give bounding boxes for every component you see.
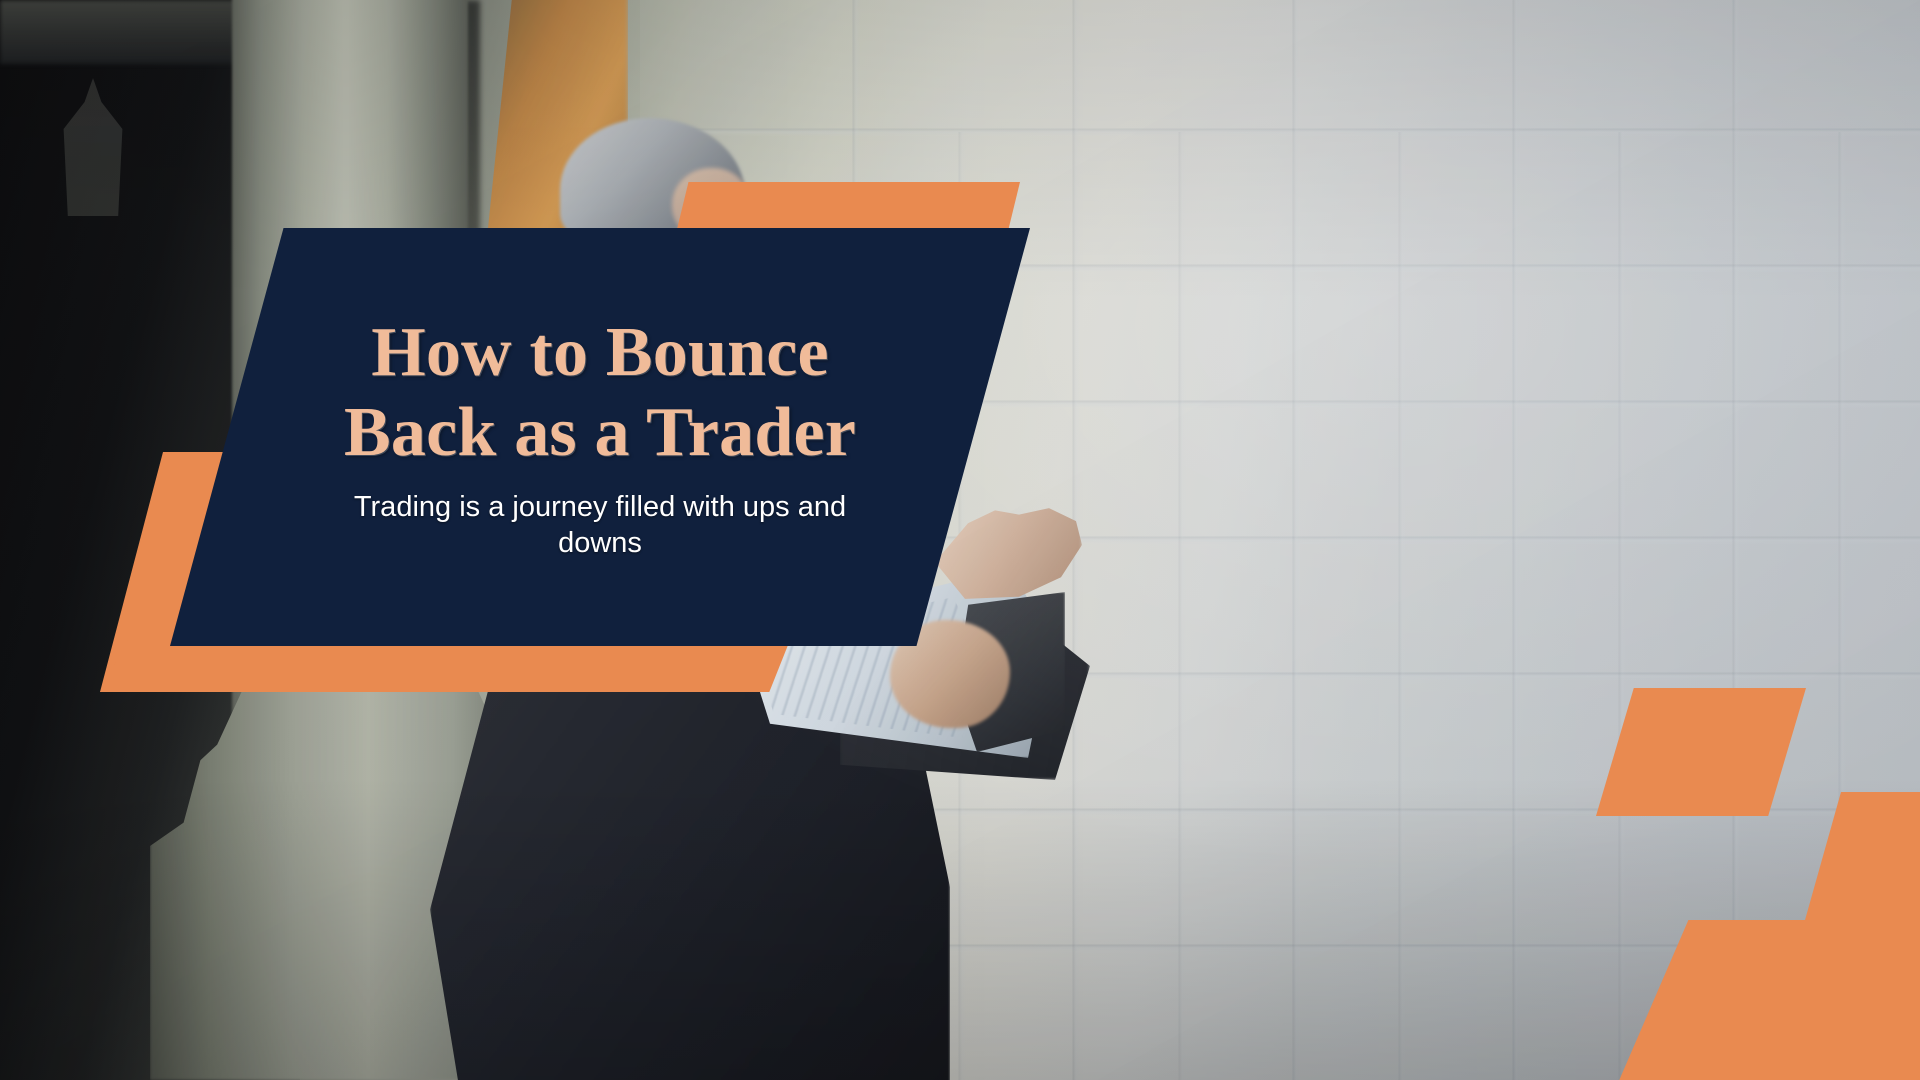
orange-shape-bottom-strip bbox=[100, 640, 790, 692]
title-card-slide: How to Bounce Back as a Trader Trading i… bbox=[0, 0, 1920, 1080]
slide-title: How to Bounce Back as a Trader bbox=[320, 313, 880, 473]
title-panel: How to Bounce Back as a Trader Trading i… bbox=[170, 228, 1030, 646]
title-panel-content: How to Bounce Back as a Trader Trading i… bbox=[170, 228, 1030, 646]
slide-subtitle: Trading is a journey filled with ups and… bbox=[320, 490, 880, 561]
